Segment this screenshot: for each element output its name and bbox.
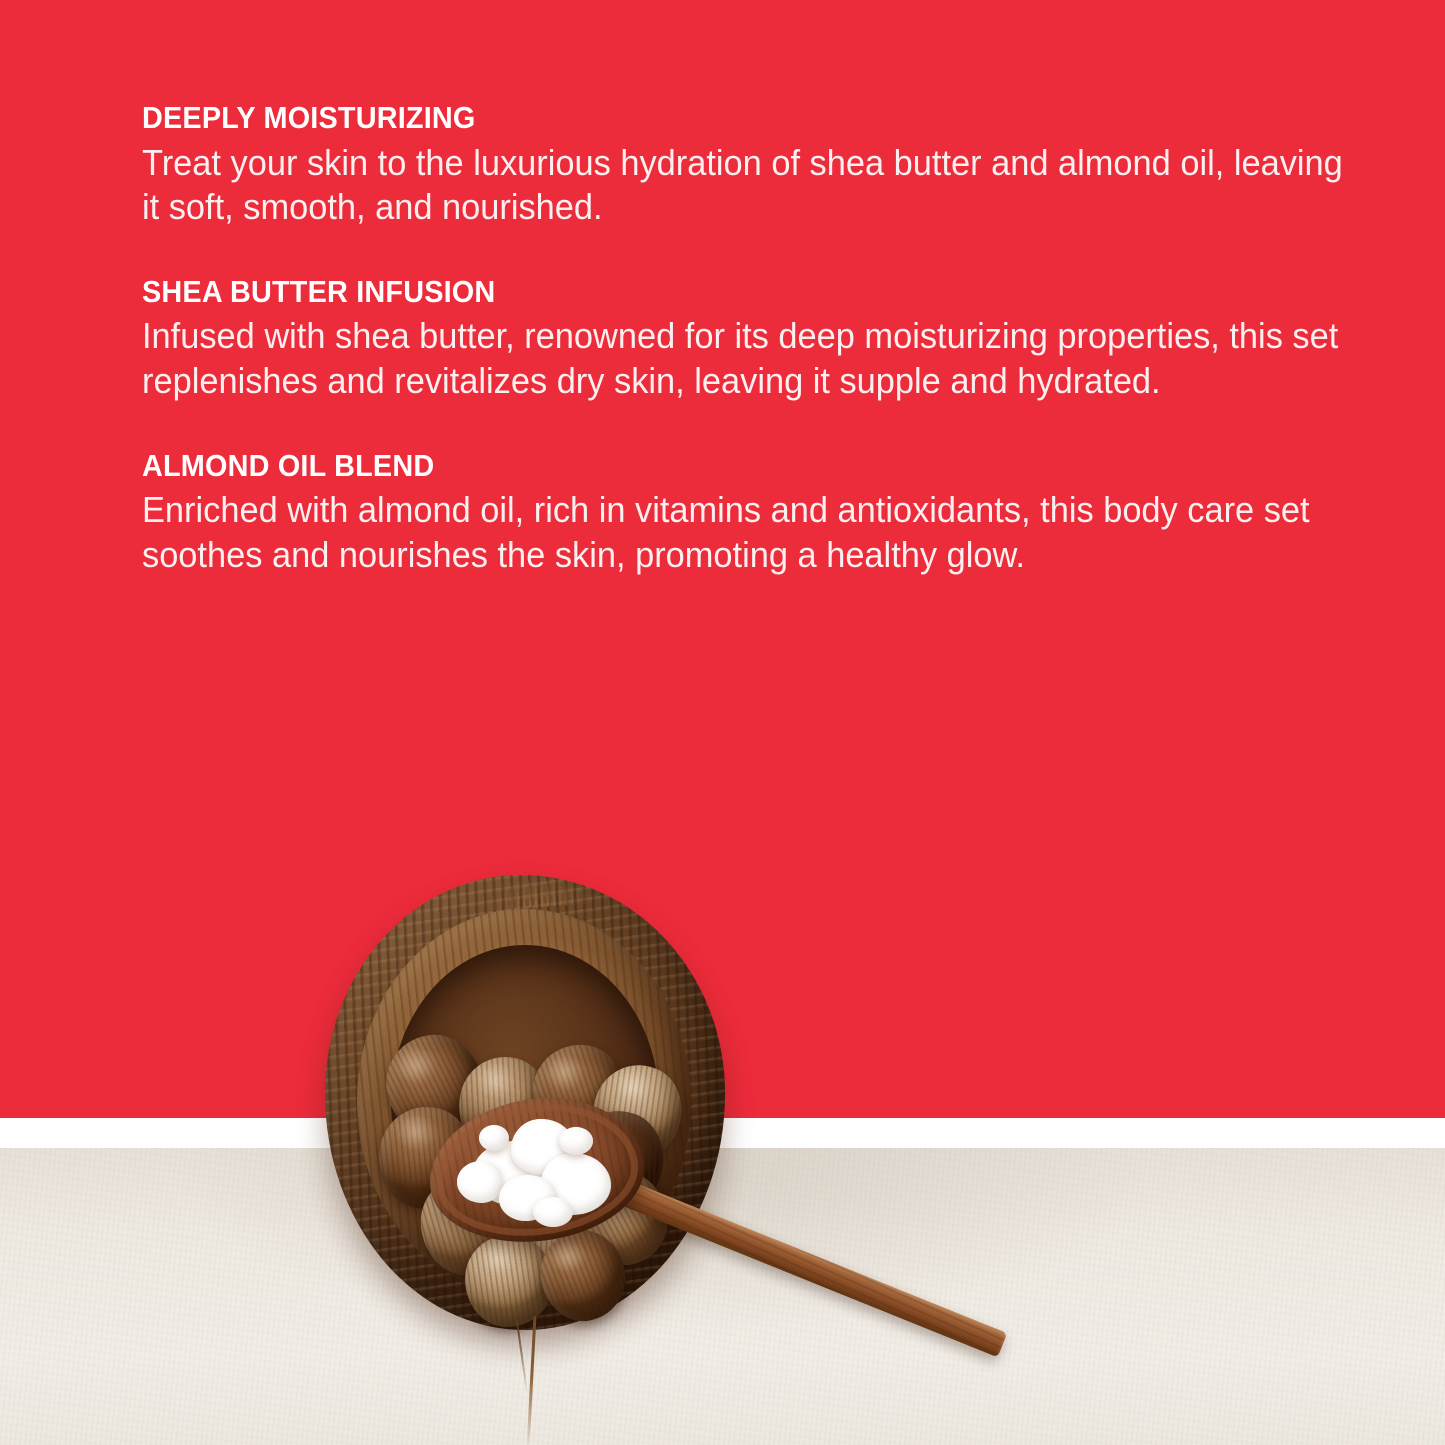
feature-title: SHEA BUTTER INFUSION (142, 274, 1258, 311)
butter-flake (559, 1127, 593, 1155)
shea-butter-scoop (449, 1113, 625, 1225)
feature-block-shea-butter-infusion: SHEA BUTTER INFUSION Infused with shea b… (142, 274, 1342, 404)
feature-block-deeply-moisturizing: DEEPLY MOISTURIZING Treat your skin to t… (142, 100, 1342, 230)
feature-title: ALMOND OIL BLEND (142, 448, 1258, 485)
product-feature-panel: DEEPLY MOISTURIZING Treat your skin to t… (0, 0, 1445, 1445)
butter-flake (479, 1125, 509, 1151)
feature-title: DEEPLY MOISTURIZING (142, 100, 1258, 137)
feature-body: Enriched with almond oil, rich in vitami… (142, 488, 1355, 577)
butter-flake (533, 1197, 573, 1227)
feature-body: Infused with shea butter, renowned for i… (142, 314, 1355, 403)
feature-copy-list: DEEPLY MOISTURIZING Treat your skin to t… (142, 100, 1342, 577)
feature-body: Treat your skin to the luxurious hydrati… (142, 141, 1355, 230)
product-photo (0, 690, 1445, 1445)
nutmeg-in-bowl (534, 1225, 631, 1327)
feature-block-almond-oil-blend: ALMOND OIL BLEND Enriched with almond oi… (142, 448, 1342, 578)
butter-lobe (457, 1161, 503, 1203)
coconut-shell-bowl (325, 875, 725, 1330)
